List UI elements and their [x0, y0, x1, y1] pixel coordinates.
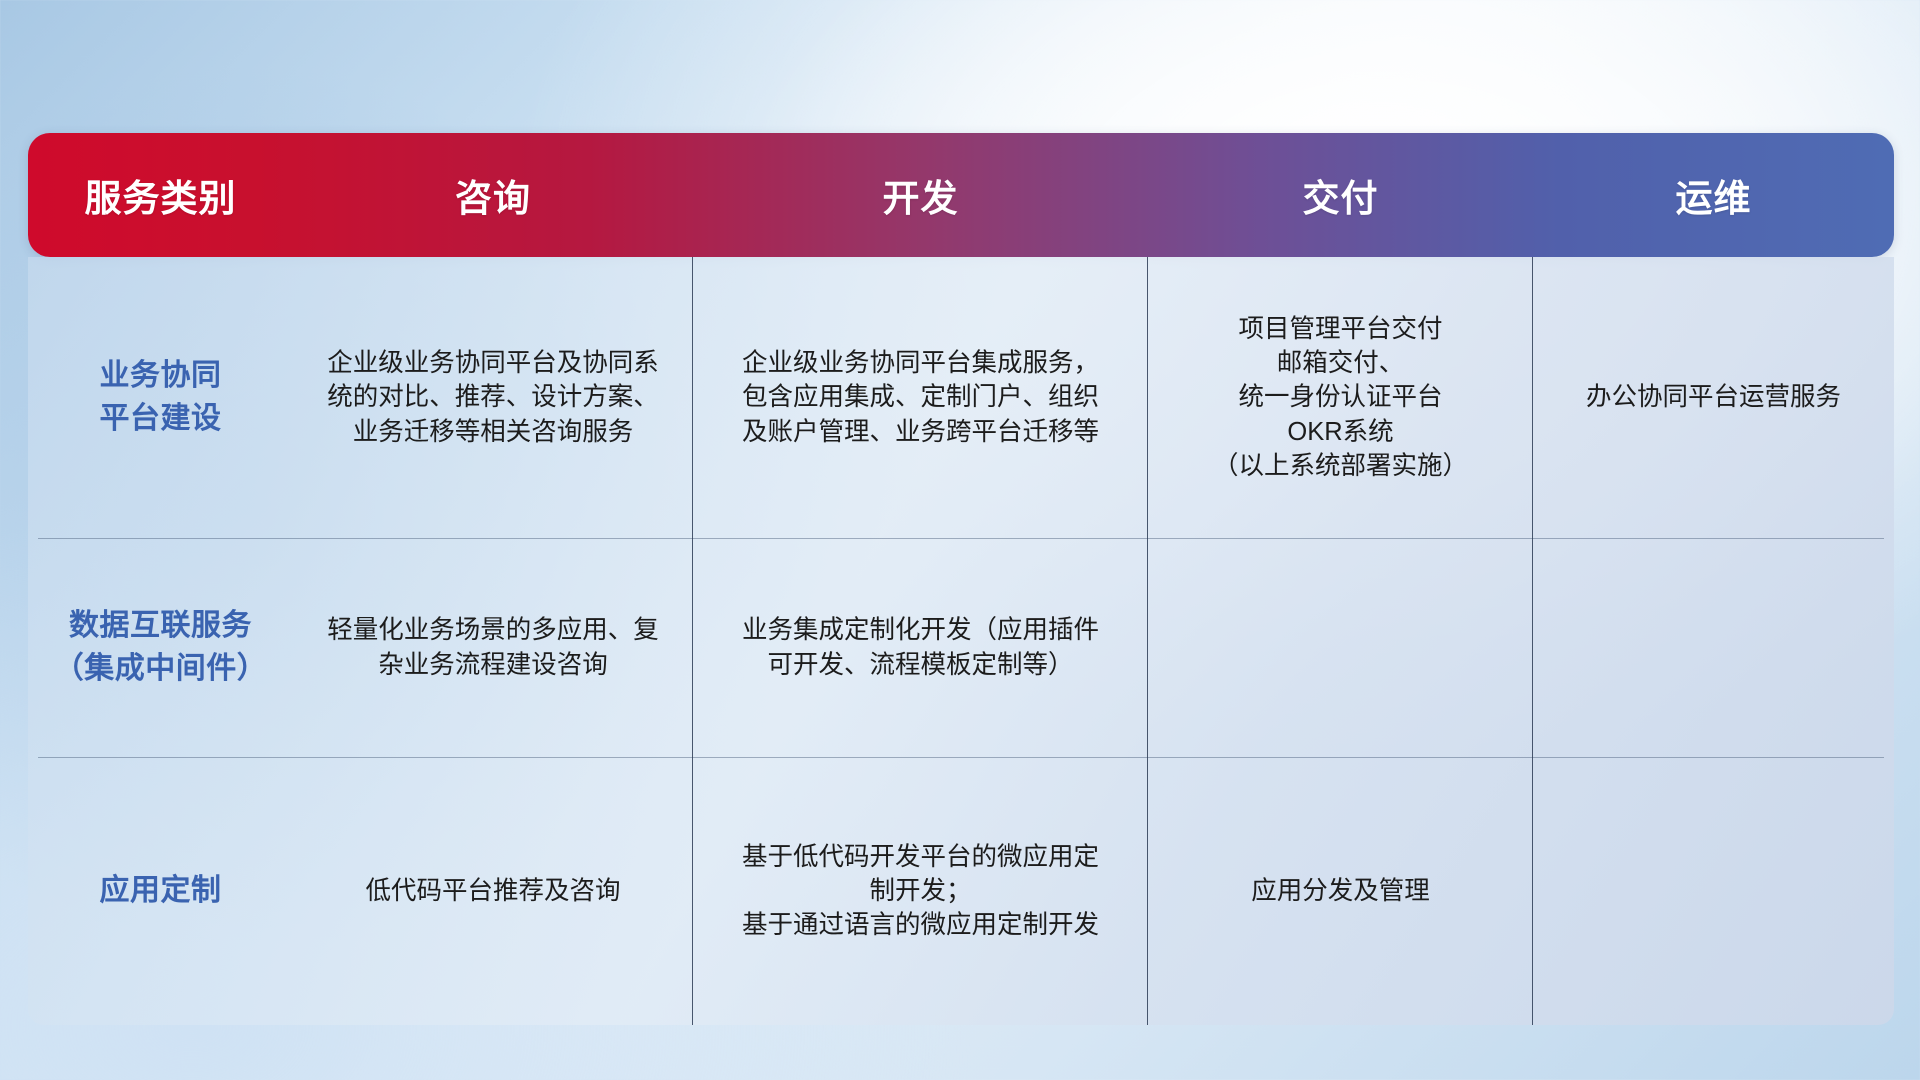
cell-operations: [1533, 757, 1894, 1025]
cell-operations: 办公协同平台运营服务: [1533, 257, 1894, 538]
cell-consulting-text: 低代码平台推荐及咨询: [365, 874, 620, 908]
cell-consulting-text: 企业级业务协同平台及协同系 统的对比、推荐、设计方案、 业务迁移等相关咨询服务: [327, 346, 659, 448]
cell-operations: [1533, 538, 1894, 757]
cell-category: 业务协同 平台建设: [28, 257, 293, 538]
service-category-table: 服务类别 咨询 开发 交付 运维 业务协同 平台建设: [28, 133, 1894, 957]
cell-delivery: [1148, 538, 1533, 757]
table-row: 数据互联服务 （集成中间件） 轻量化业务场景的多应用、复 杂业务流程建设咨询 业…: [28, 538, 1894, 757]
column-header-development: 开发: [693, 133, 1148, 257]
table-body: 业务协同 平台建设 企业级业务协同平台及协同系 统的对比、推荐、设计方案、 业务…: [28, 257, 1894, 1025]
column-header-category-label: 服务类别: [85, 168, 237, 222]
cell-delivery: 应用分发及管理: [1148, 757, 1533, 1025]
table-header-row: 服务类别 咨询 开发 交付 运维: [28, 133, 1894, 257]
cell-category-text: 应用定制: [100, 870, 222, 913]
column-header-consulting: 咨询: [293, 133, 693, 257]
cell-development: 基于低代码开发平台的微应用定 制开发； 基于通过语言的微应用定制开发: [693, 757, 1148, 1025]
cell-category: 数据互联服务 （集成中间件）: [28, 538, 293, 757]
cell-development: 业务集成定制化开发（应用插件 可开发、流程模板定制等）: [693, 538, 1148, 757]
cell-consulting: 企业级业务协同平台及协同系 统的对比、推荐、设计方案、 业务迁移等相关咨询服务: [293, 257, 693, 538]
cell-delivery: 项目管理平台交付 邮箱交付、 统一身份认证平台 OKR系统 （以上系统部署实施）: [1148, 257, 1533, 538]
column-header-consulting-label: 咨询: [455, 168, 531, 222]
column-header-operations: 运维: [1533, 133, 1894, 257]
column-header-operations-label: 运维: [1676, 168, 1752, 222]
cell-development-text: 业务集成定制化开发（应用插件 可开发、流程模板定制等）: [742, 613, 1099, 681]
cell-operations-text: 办公协同平台运营服务: [1586, 380, 1841, 414]
column-header-development-label: 开发: [883, 168, 959, 222]
table-row: 业务协同 平台建设 企业级业务协同平台及协同系 统的对比、推荐、设计方案、 业务…: [28, 257, 1894, 538]
cell-category-text: 业务协同 平台建设: [100, 355, 222, 440]
page-root: 服务类别 咨询 开发 交付 运维 业务协同 平台建设: [0, 0, 1920, 1080]
cell-consulting-text: 轻量化业务场景的多应用、复 杂业务流程建设咨询: [327, 613, 659, 681]
cell-category-text: 数据互联服务 （集成中间件）: [54, 605, 268, 690]
column-header-delivery: 交付: [1148, 133, 1533, 257]
cell-category: 应用定制: [28, 757, 293, 1025]
column-header-delivery-label: 交付: [1303, 168, 1379, 222]
cell-development-text: 基于低代码开发平台的微应用定 制开发； 基于通过语言的微应用定制开发: [742, 840, 1099, 942]
cell-consulting: 低代码平台推荐及咨询: [293, 757, 693, 1025]
cell-development-text: 企业级业务协同平台集成服务， 包含应用集成、定制门户、组织 及账户管理、业务跨平…: [742, 346, 1099, 448]
cell-development: 企业级业务协同平台集成服务， 包含应用集成、定制门户、组织 及账户管理、业务跨平…: [693, 257, 1148, 538]
cell-delivery-text: 应用分发及管理: [1251, 874, 1430, 908]
column-header-category: 服务类别: [28, 133, 293, 257]
table-row: 应用定制 低代码平台推荐及咨询 基于低代码开发平台的微应用定 制开发； 基于通过…: [28, 757, 1894, 1025]
cell-consulting: 轻量化业务场景的多应用、复 杂业务流程建设咨询: [293, 538, 693, 757]
cell-delivery-text: 项目管理平台交付 邮箱交付、 统一身份认证平台 OKR系统 （以上系统部署实施）: [1213, 312, 1468, 483]
